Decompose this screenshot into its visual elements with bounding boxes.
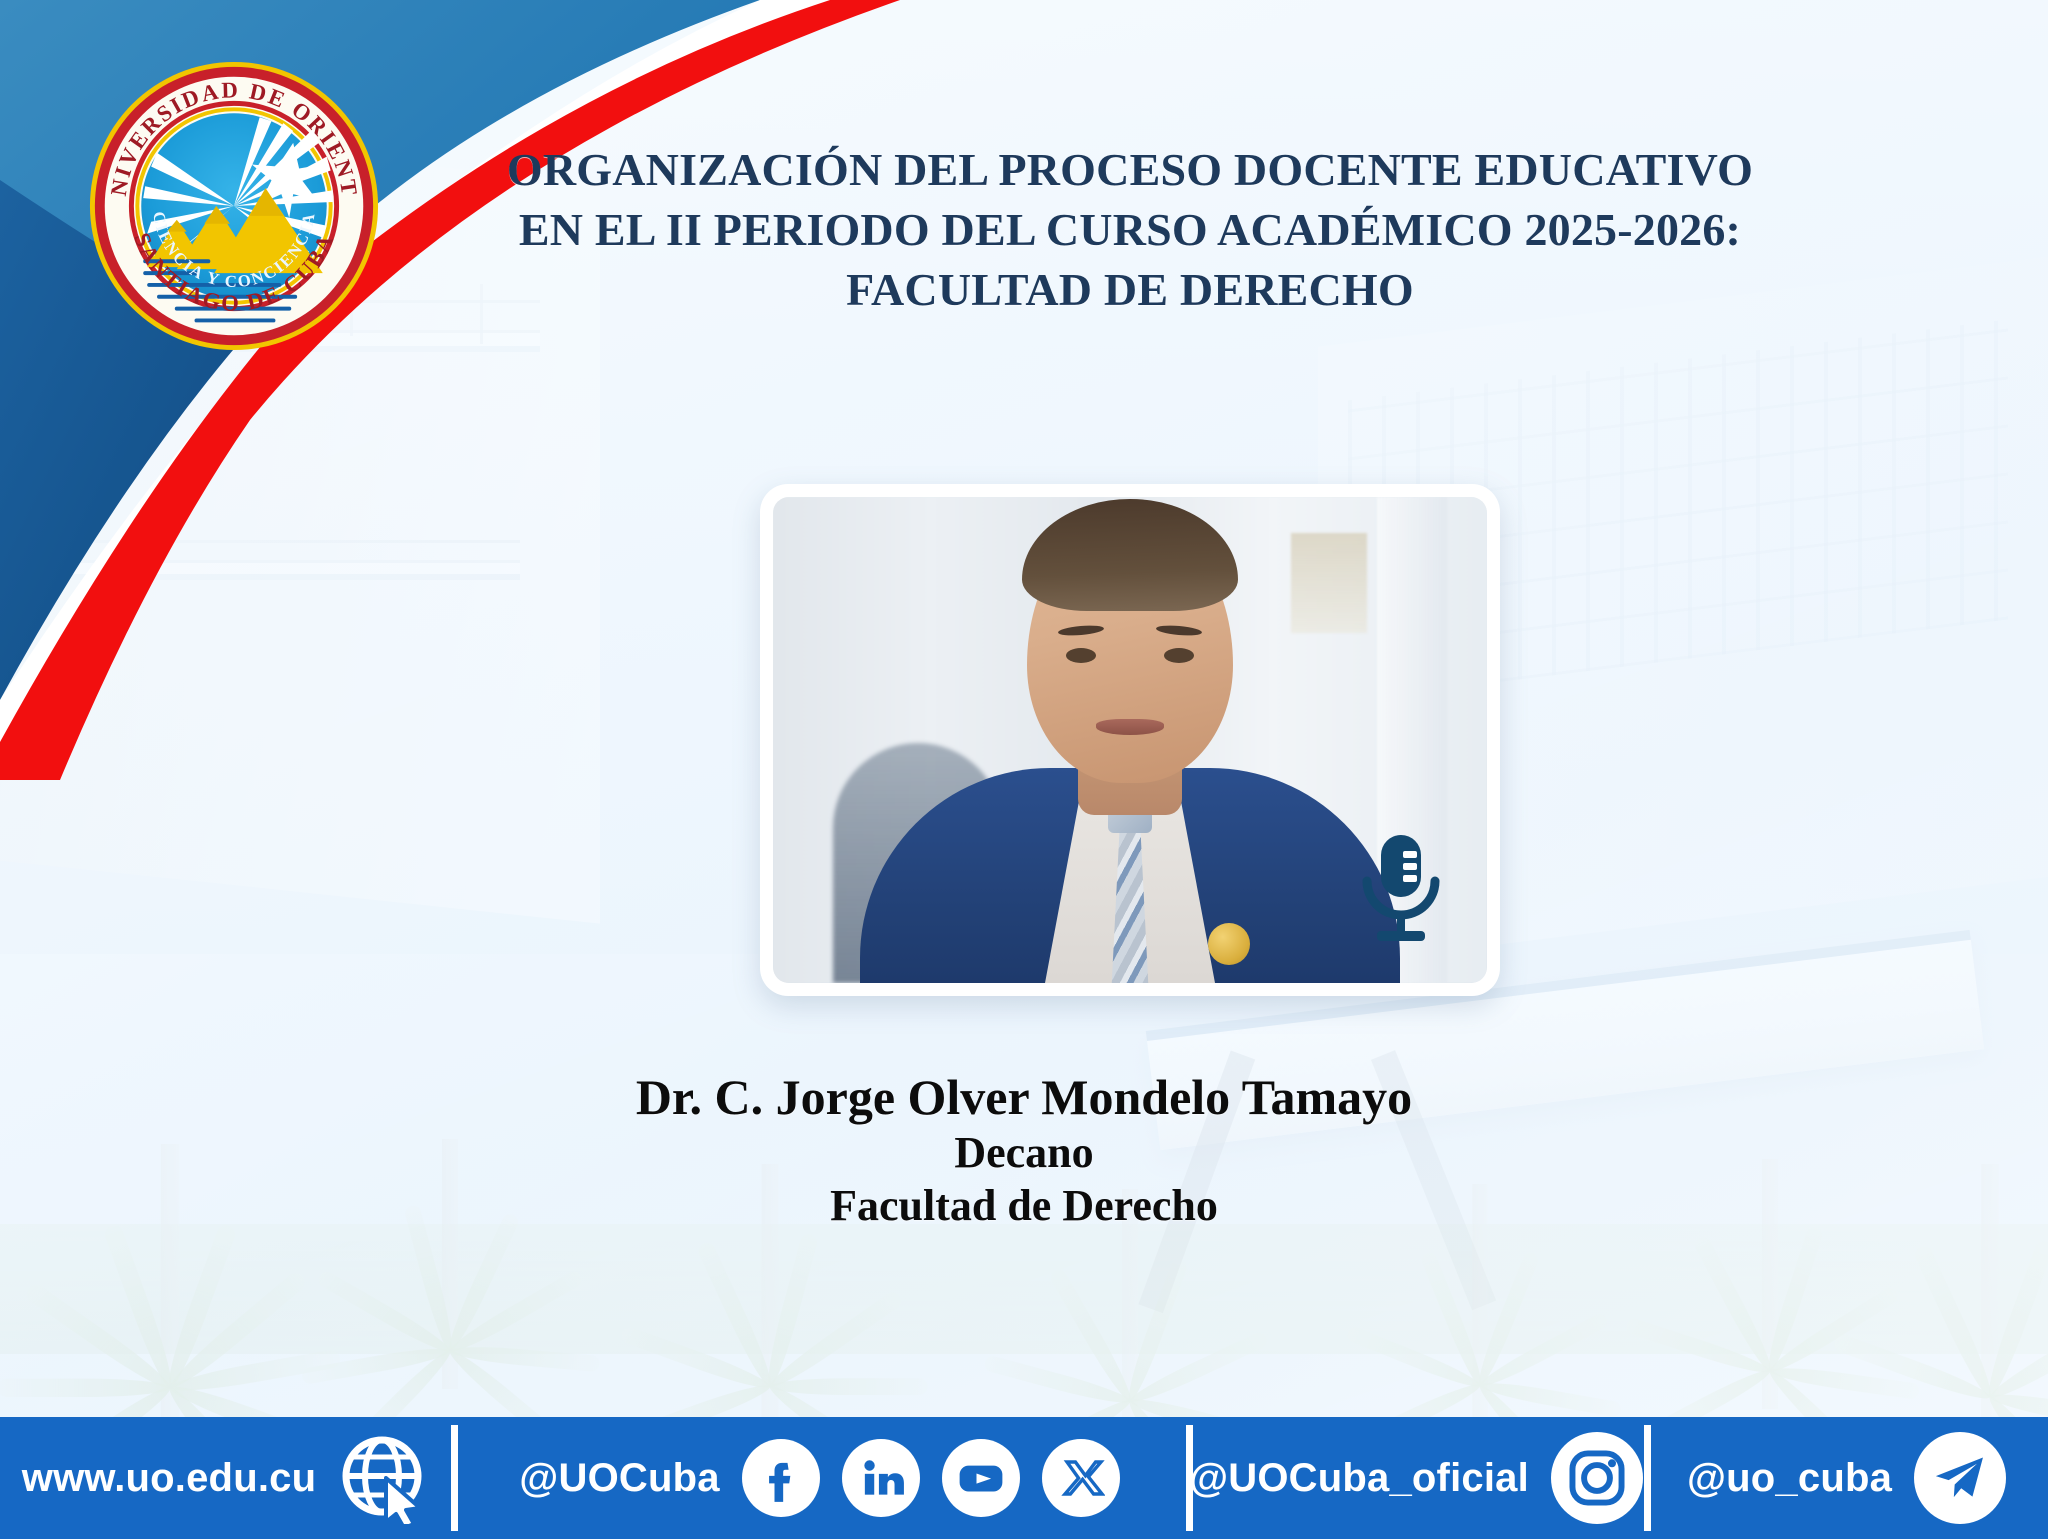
facebook-icon[interactable] — [742, 1439, 820, 1517]
x-twitter-icon[interactable] — [1042, 1439, 1120, 1517]
title-line-1: ORGANIZACIÓN DEL PROCESO DOCENTE EDUCATI… — [420, 140, 1840, 200]
portrait-lapel-pin — [1208, 923, 1250, 965]
university-seal-logo: UNIVERSIDAD DE ORIENTE CIENCIA Y CONCIEN… — [86, 58, 382, 354]
speaker-portrait-image — [773, 497, 1487, 983]
youtube-icon[interactable] — [942, 1439, 1020, 1517]
footer-segment-social[interactable]: @UOCuba — [452, 1417, 1187, 1539]
slide-title: ORGANIZACIÓN DEL PROCESO DOCENTE EDUCATI… — [420, 140, 1840, 319]
footer-bar: www.uo.edu.cu @UOCuba — [0, 1417, 2048, 1539]
microphone-icon — [1359, 833, 1443, 945]
presentation-slide: UNIVERSIDAD DE ORIENTE CIENCIA Y CONCIEN… — [0, 0, 2048, 1539]
footer-segment-telegram[interactable]: @uo_cuba — [1645, 1417, 2048, 1539]
speaker-faculty: Facultad de Derecho — [0, 1180, 2048, 1233]
social-handle-label: @UOCuba — [519, 1456, 719, 1501]
linkedin-icon[interactable] — [842, 1439, 920, 1517]
speaker-role: Decano — [0, 1127, 2048, 1180]
speaker-portrait-card — [760, 484, 1500, 996]
footer-segment-website[interactable]: www.uo.edu.cu — [0, 1417, 452, 1539]
instagram-icon[interactable] — [1551, 1432, 1643, 1524]
speaker-name: Dr. C. Jorge Olver Mondelo Tamayo — [0, 1068, 2048, 1127]
website-label: www.uo.edu.cu — [22, 1456, 316, 1501]
speaker-info: Dr. C. Jorge Olver Mondelo Tamayo Decano… — [0, 1068, 2048, 1233]
title-line-3: FACULTAD DE DERECHO — [420, 260, 1840, 320]
telegram-handle-label: @uo_cuba — [1687, 1456, 1892, 1501]
title-line-2: EN EL II PERIODO DEL CURSO ACADÉMICO 202… — [420, 200, 1840, 260]
globe-cursor-icon — [338, 1432, 430, 1524]
footer-segment-instagram[interactable]: @UOCuba_oficial — [1187, 1417, 1645, 1539]
telegram-icon[interactable] — [1914, 1432, 2006, 1524]
instagram-handle-label: @UOCuba_oficial — [1189, 1456, 1529, 1501]
